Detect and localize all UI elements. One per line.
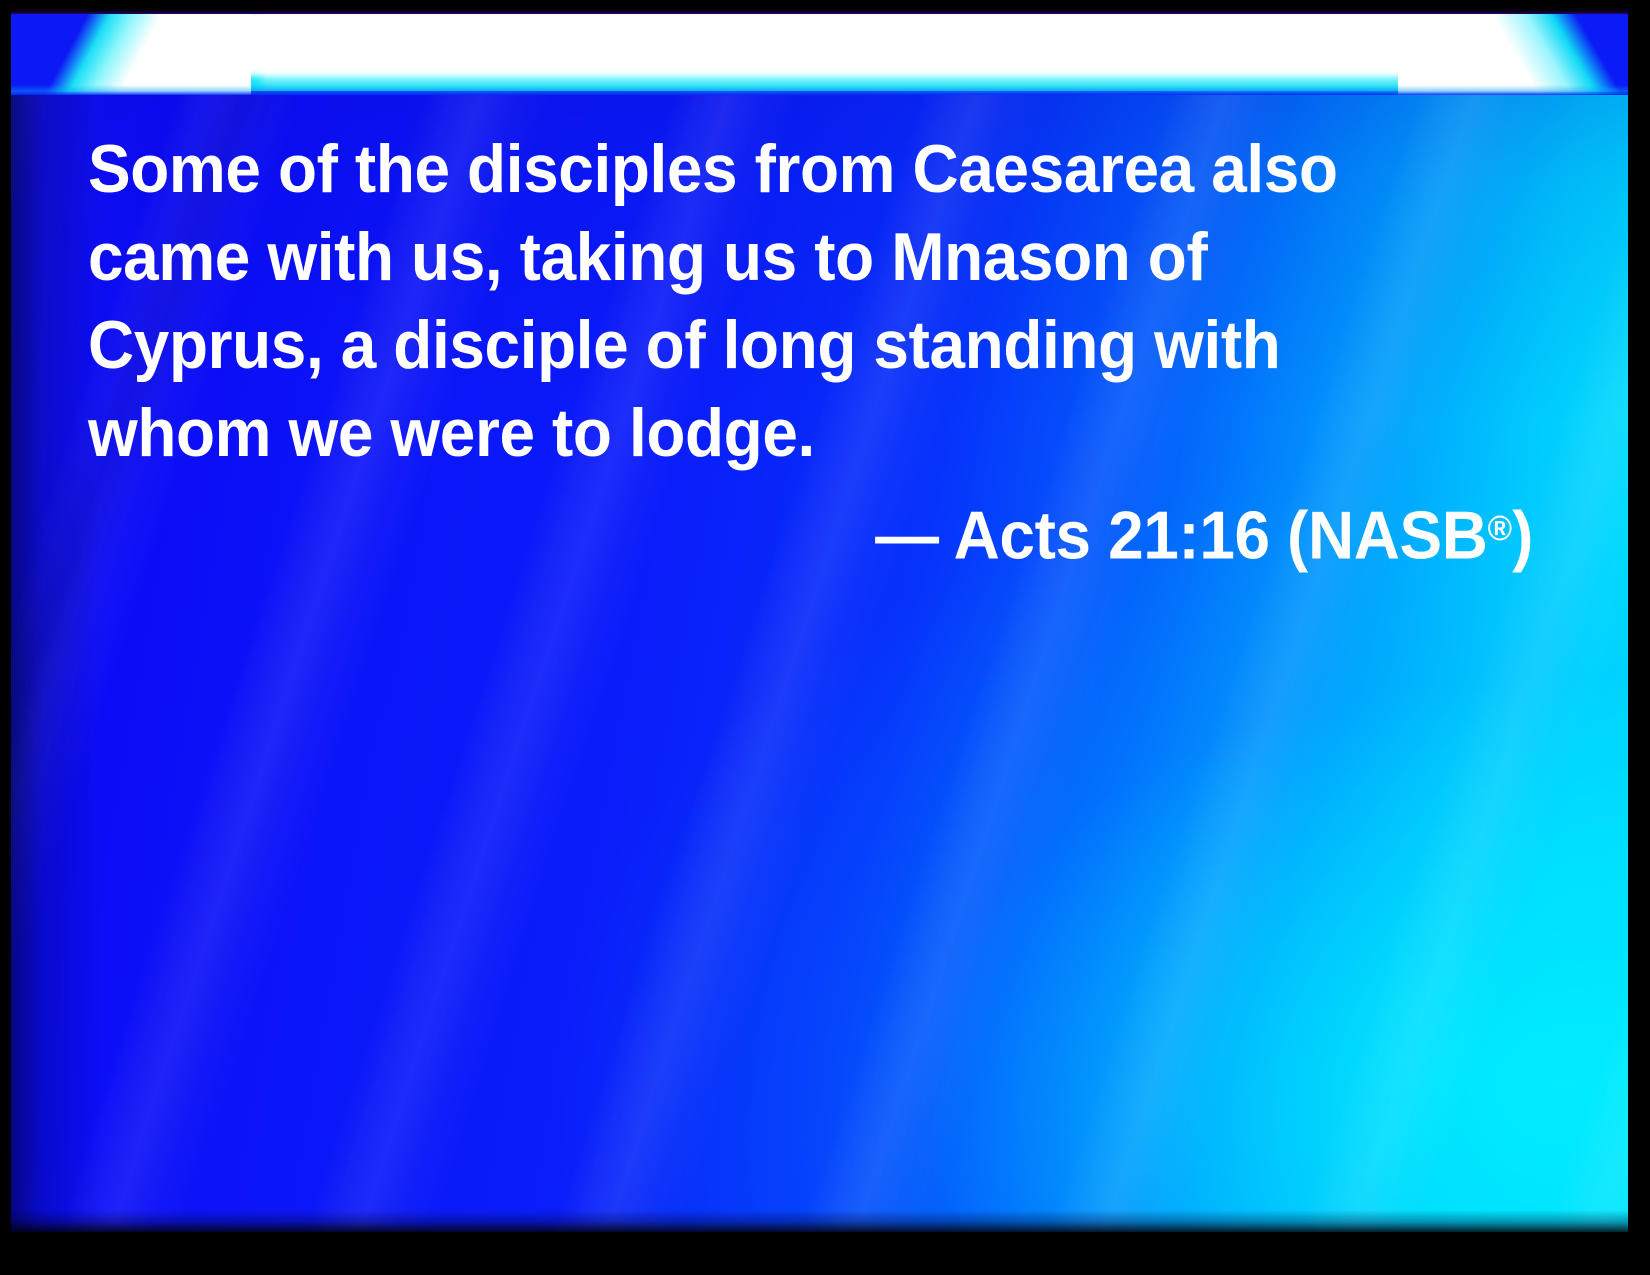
header-light-band — [11, 7, 1628, 95]
verse-attribution: — Acts 21:16 (NASB®) — [175, 485, 1533, 579]
verse-attribution-suffix: ) — [1512, 497, 1533, 573]
verse-text-block: Some of the disciples from Caesarea also… — [88, 125, 1533, 579]
header-band-left-wedge — [11, 7, 251, 95]
verse-slide: Some of the disciples from Caesarea also… — [0, 0, 1650, 1275]
header-band-right-wedge — [1398, 7, 1628, 95]
verse-line-2: came with us, taking us to Mnason of — [88, 213, 1446, 301]
verse-line-4: whom we were to lodge. — [88, 389, 1446, 477]
verse-line-1: Some of the disciples from Caesarea also — [88, 125, 1446, 213]
registered-trademark-icon: ® — [1488, 509, 1512, 548]
verse-line-3: Cyprus, a disciple of long standing with — [88, 301, 1446, 389]
background-bottom-shade — [11, 1210, 1628, 1232]
top-divider-rule — [11, 7, 1628, 14]
header-band-bottom-fade — [11, 85, 1628, 95]
verse-attribution-prefix: — Acts 21:16 (NASB — [875, 497, 1487, 573]
header-band-white-core-secondary — [261, 13, 1418, 91]
slide-stage: Some of the disciples from Caesarea also… — [11, 7, 1628, 1232]
